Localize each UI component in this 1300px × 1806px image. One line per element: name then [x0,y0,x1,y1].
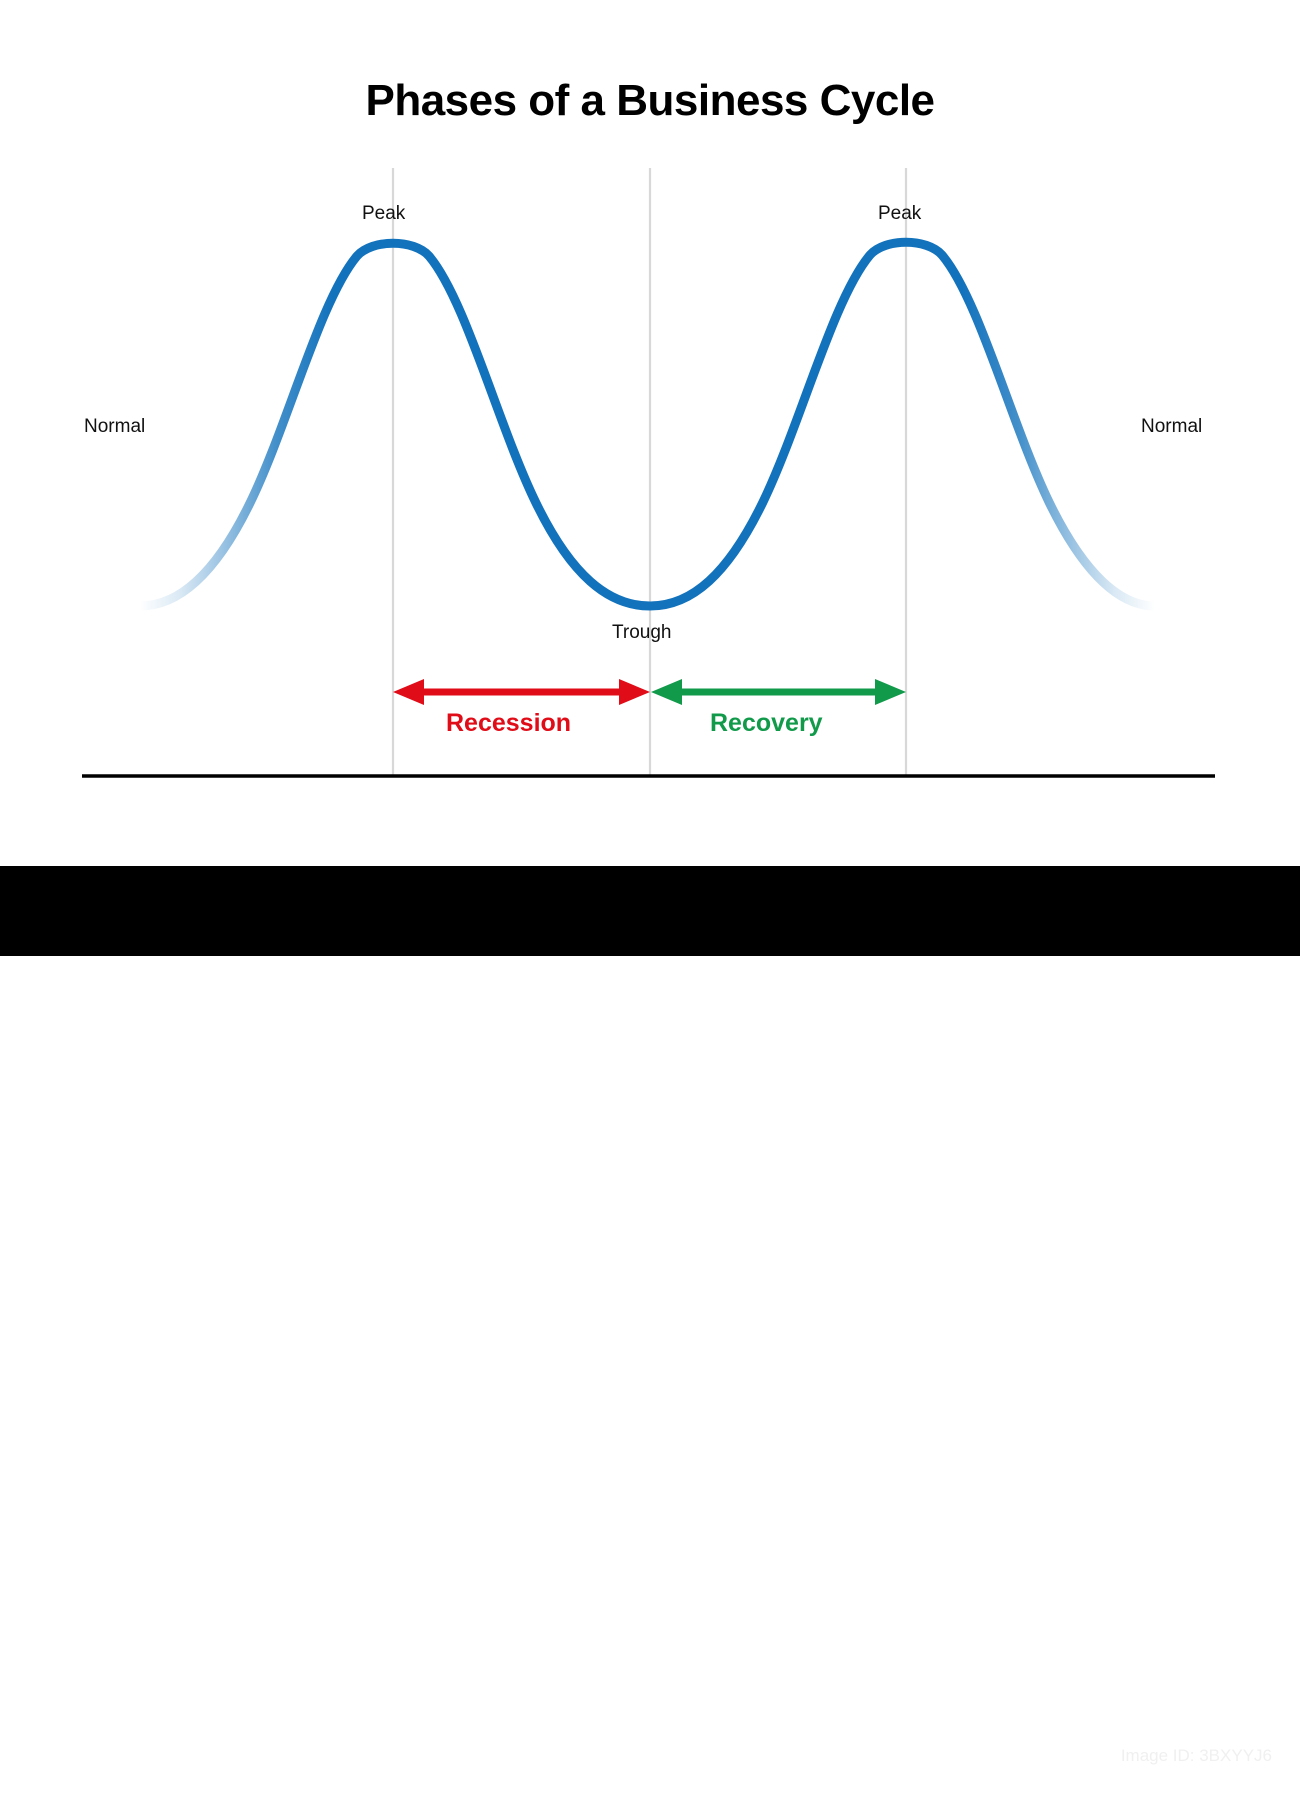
business-cycle-curve [140,242,1155,606]
phase-label-recession: Recession [446,709,571,738]
screenshot-root: Phases of a Business Cycle [0,0,1300,956]
recession-arrow [393,679,650,705]
business-cycle-plot [0,0,1300,855]
recovery-arrow [651,679,906,705]
annotation-trough: Trough [612,622,672,644]
annotation-normal-right: Normal [1141,416,1202,438]
watermark-bar: alamy Image ID: 3BXYYJ6 www.alamy.com [0,866,1300,956]
annotation-normal-left: Normal [84,416,145,438]
gridlines [168,168,1130,776]
image-id-label: Image ID: 3BXYYJ6 [1121,1746,1272,1766]
alamy-logo: alamy [47,1750,202,1806]
phase-label-recovery: Recovery [710,709,823,738]
annotation-peak-left: Peak [362,203,405,225]
annotation-peak-right: Peak [878,203,921,225]
website-label: www.alamy.com [1119,1772,1272,1795]
chart-canvas: Phases of a Business Cycle [0,0,1300,855]
